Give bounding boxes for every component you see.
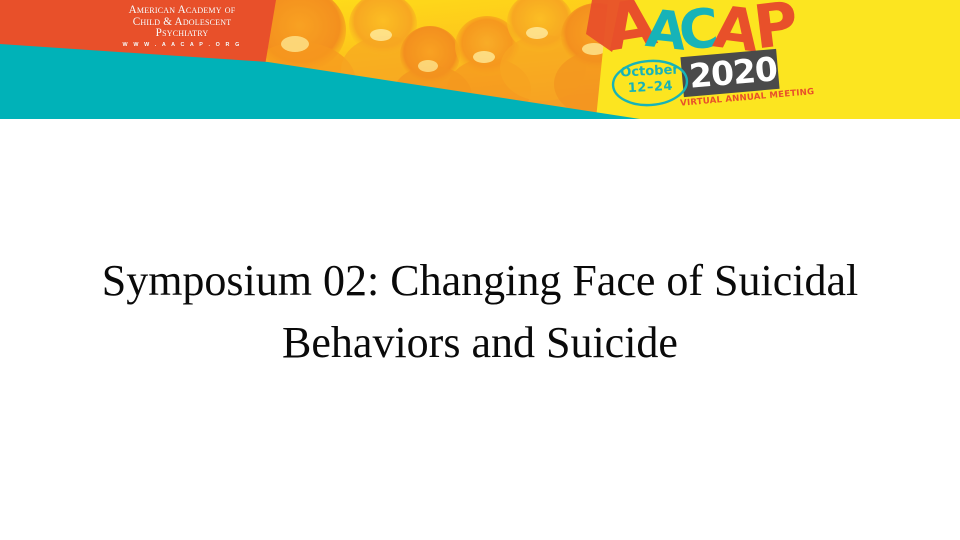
meeting-dates: October 12–24 [609, 62, 691, 98]
aacap-association-logo: American Academy of Child & Adolescent P… [108, 5, 256, 49]
title-block: Symposium 02: Changing Face of Suicidal … [60, 250, 900, 374]
assoc-logo-url: W W W . A A C A P . O R G [108, 43, 256, 49]
presentation-slide: American Academy of Child & Adolescent P… [0, 0, 960, 540]
assoc-logo-line1: American Academy of [108, 5, 256, 17]
slide-banner: American Academy of Child & Adolescent P… [0, 0, 960, 119]
meeting-date-line1: October [620, 62, 679, 80]
aacap-2020-meeting-logo: A A C A P 2020 VIRTUAL ANNUAL MEETING Oc… [604, 0, 804, 119]
page-title: Symposium 02: Changing Face of Suicidal … [60, 250, 900, 374]
meeting-year: 2020 [687, 50, 780, 96]
assoc-logo-line3: Psychiatry [108, 28, 256, 40]
